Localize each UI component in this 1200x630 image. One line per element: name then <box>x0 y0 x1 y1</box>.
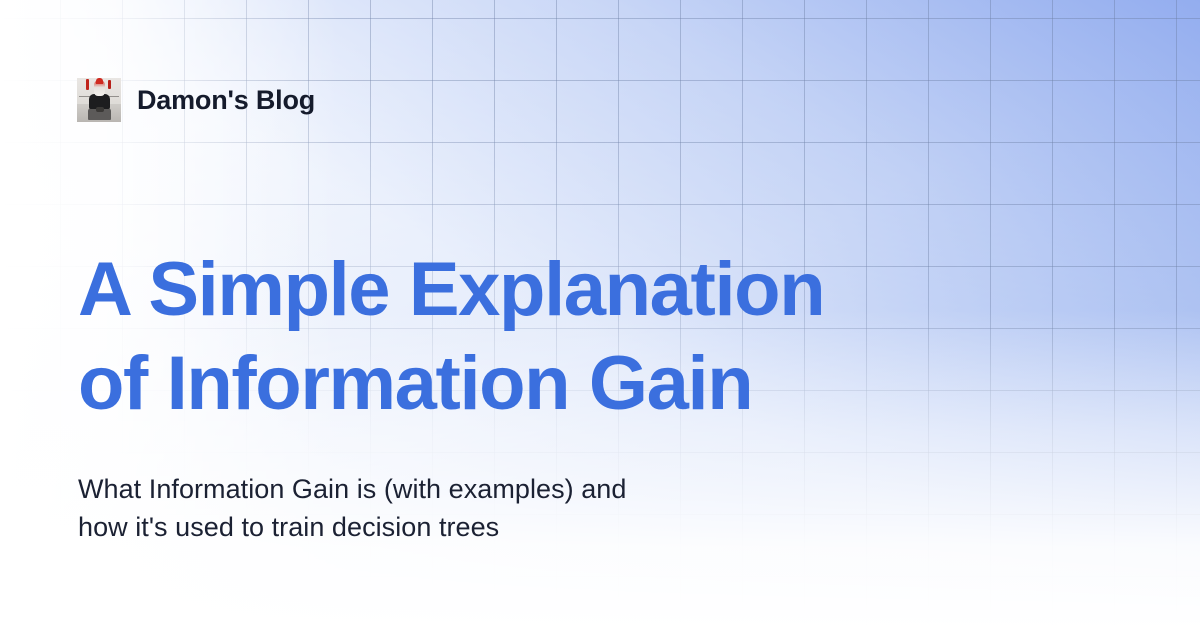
page-title-line-1: A Simple Explanation <box>78 243 1078 337</box>
social-share-card: Damon's Blog A Simple Explanation of Inf… <box>0 0 1200 630</box>
avatar <box>77 78 121 122</box>
avatar-red-accent-right <box>108 80 111 89</box>
card-content: Damon's Blog A Simple Explanation of Inf… <box>0 0 1200 630</box>
page-subtitle-line-1: What Information Gain is (with examples)… <box>78 470 958 508</box>
avatar-red-accent-left <box>86 79 89 90</box>
chicken-comb-icon <box>96 78 103 84</box>
page-subtitle-line-2: how it's used to train decision trees <box>78 508 958 546</box>
avatar-hands <box>96 107 104 112</box>
page-title-line-2: of Information Gain <box>78 337 1078 431</box>
blog-title: Damon's Blog <box>137 85 315 116</box>
page-subtitle: What Information Gain is (with examples)… <box>78 470 958 546</box>
page-title: A Simple Explanation of Information Gain <box>78 243 1078 431</box>
blog-brand[interactable]: Damon's Blog <box>77 78 315 122</box>
